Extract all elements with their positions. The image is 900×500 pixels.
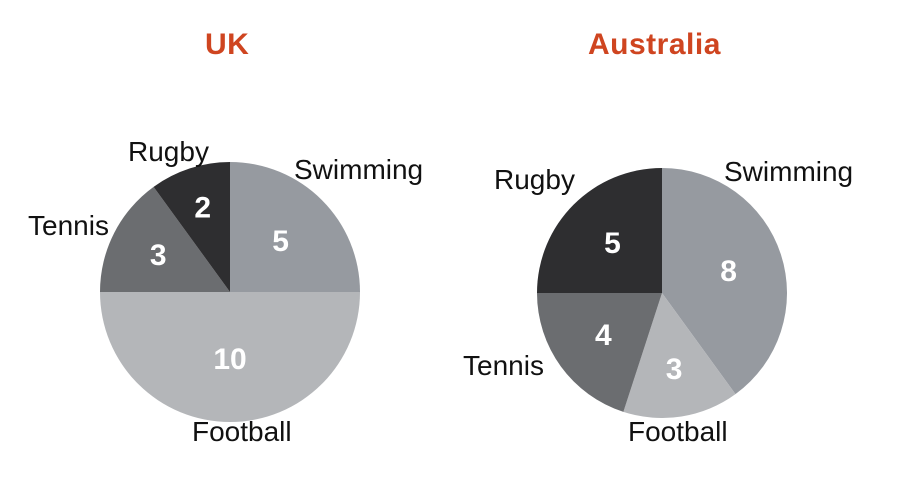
uk-chart-title: UK	[205, 28, 249, 62]
uk-pie-svg: 51032	[100, 162, 360, 422]
australia-pie-chart: 8345	[537, 168, 787, 418]
uk-label-tennis: Tennis	[28, 212, 109, 240]
australia-label-football: Football	[628, 418, 728, 446]
australia-chart-title: Australia	[588, 28, 721, 62]
pie-value-football: 10	[213, 343, 246, 376]
pie-value-swimming: 8	[720, 255, 737, 288]
uk-pie-chart: 51032	[100, 162, 360, 422]
uk-label-rugby: Rugby	[128, 138, 209, 166]
pie-chart-comparison-figure: UK Australia 51032 Rugby Tennis Swimming…	[0, 0, 900, 500]
uk-label-swimming: Swimming	[294, 156, 423, 184]
pie-value-tennis: 3	[150, 239, 167, 272]
pie-value-rugby: 5	[604, 227, 621, 260]
pie-value-football: 3	[666, 353, 683, 386]
australia-label-swimming: Swimming	[724, 158, 853, 186]
australia-label-tennis: Tennis	[463, 352, 544, 380]
pie-value-rugby: 2	[194, 191, 211, 224]
pie-value-swimming: 5	[272, 225, 289, 258]
australia-label-rugby: Rugby	[494, 166, 575, 194]
pie-value-tennis: 4	[595, 319, 612, 352]
australia-pie-svg: 8345	[537, 168, 787, 418]
uk-label-football: Football	[192, 418, 292, 446]
